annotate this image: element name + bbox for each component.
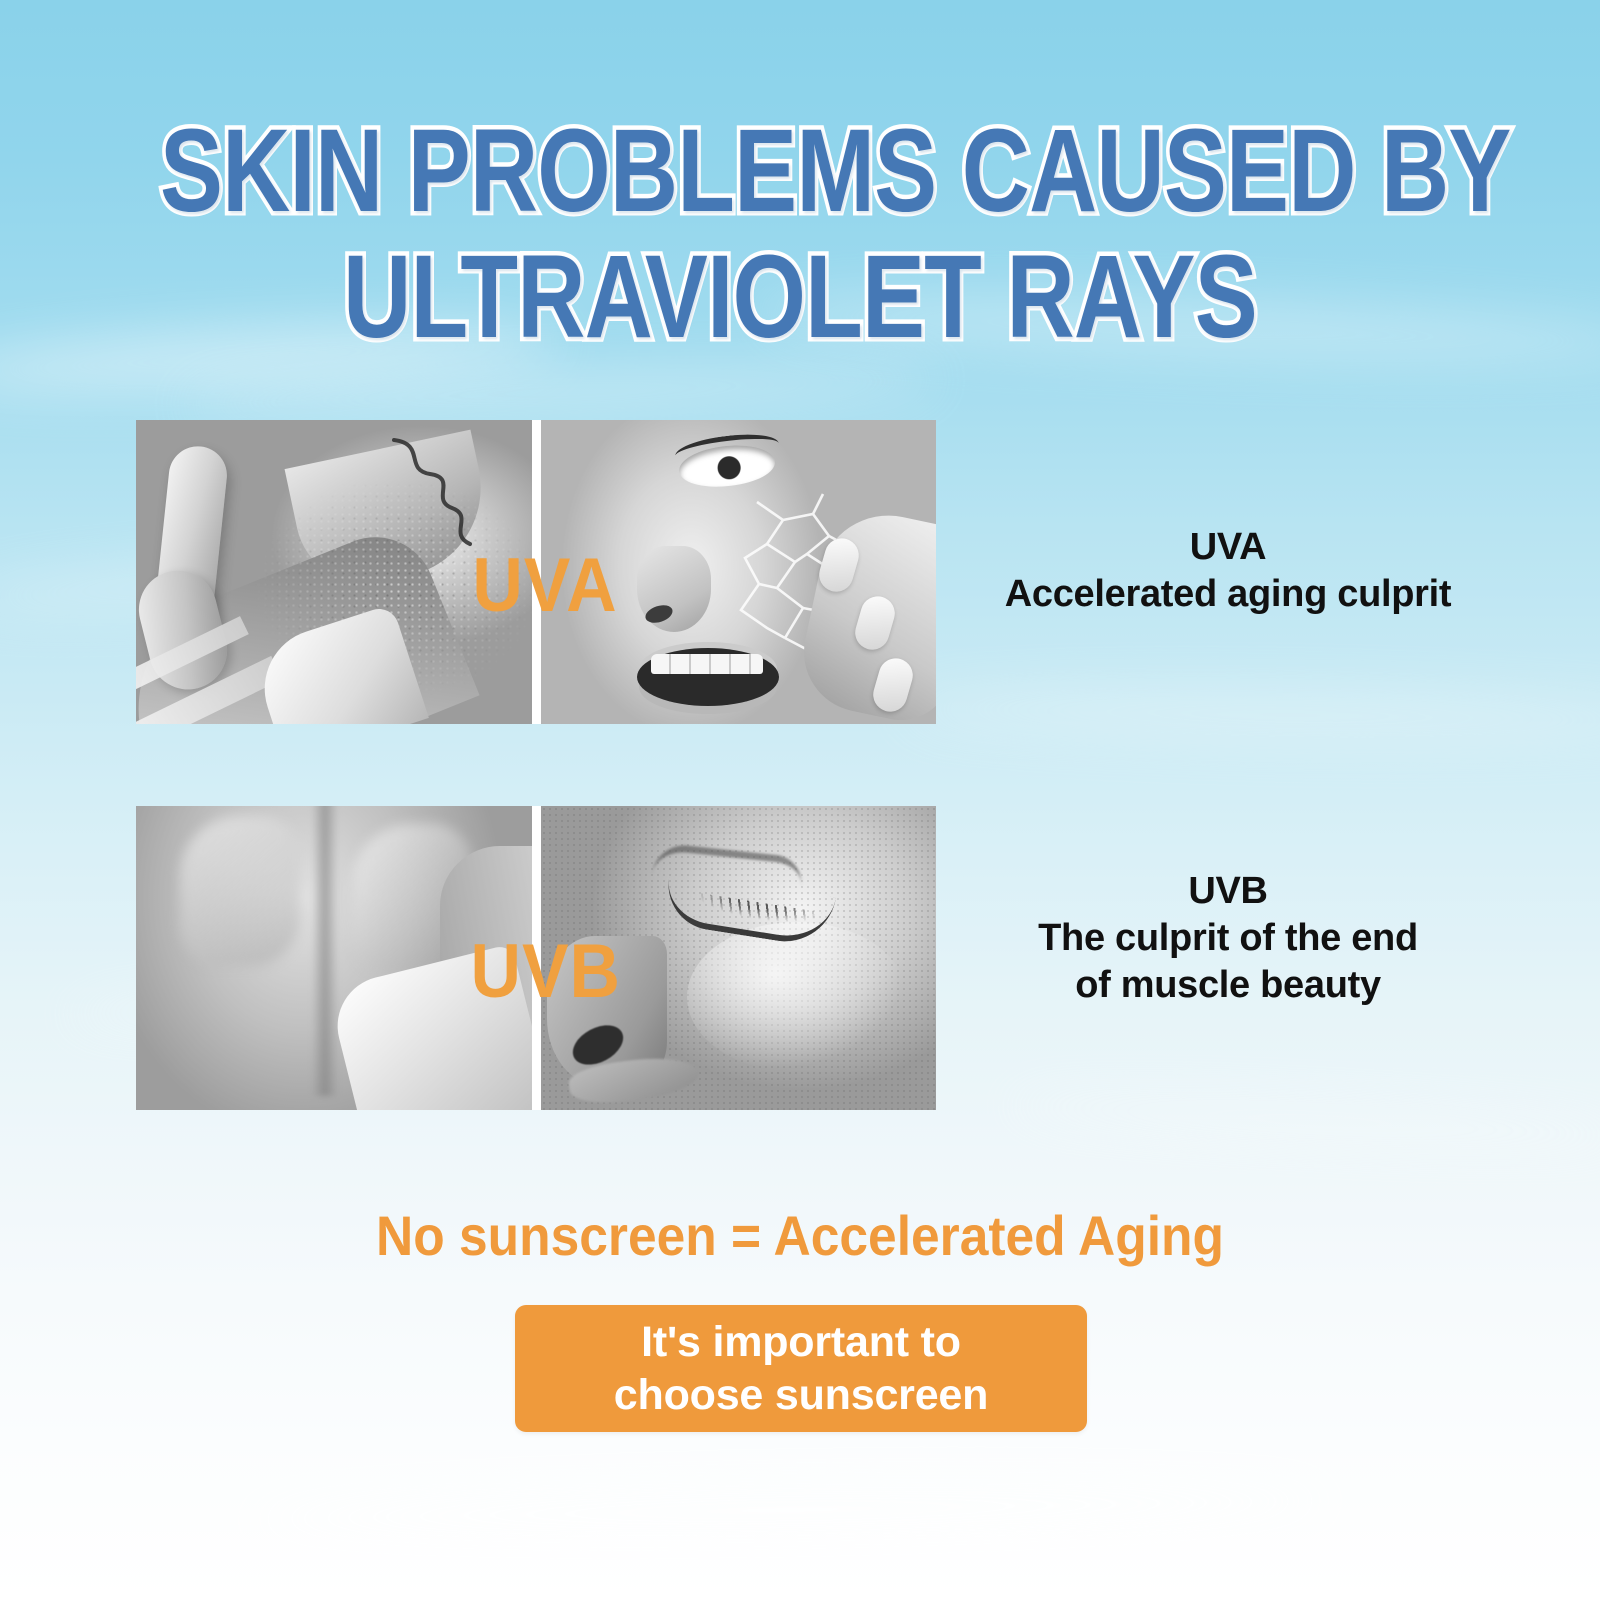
- uva-description: UVA Accelerated aging culprit: [968, 524, 1488, 618]
- title-line-1: SKIN PROBLEMS CAUSED BY: [160, 112, 1440, 230]
- cta-line-1: It's important to: [641, 1316, 961, 1368]
- cloud-wisp-icon: [180, 359, 941, 425]
- cloud-wisp-icon: [240, 1470, 1341, 1549]
- cta-line-2: choose sunscreen: [614, 1369, 988, 1421]
- uv-skin-problems-poster: SKIN PROBLEMS CAUSED BY ULTRAVIOLET RAYS: [0, 0, 1600, 1600]
- uvb-description: UVB The culprit of the end of muscle bea…: [968, 868, 1488, 1009]
- uvb-overlay-label: UVB: [471, 934, 621, 1010]
- cloud-wisp-icon: [999, 1083, 1600, 1158]
- choose-sunscreen-button[interactable]: It's important to choose sunscreen: [515, 1305, 1087, 1432]
- tagline: No sunscreen = Accelerated Aging: [64, 1203, 1536, 1268]
- hair-strand-icon: [386, 436, 532, 556]
- uva-overlay-label: UVA: [472, 548, 617, 624]
- page-title: SKIN PROBLEMS CAUSED BY ULTRAVIOLET RAYS: [0, 112, 1600, 356]
- title-line-2: ULTRAVIOLET RAYS: [160, 238, 1440, 356]
- cloud-wisp-icon: [900, 683, 1600, 747]
